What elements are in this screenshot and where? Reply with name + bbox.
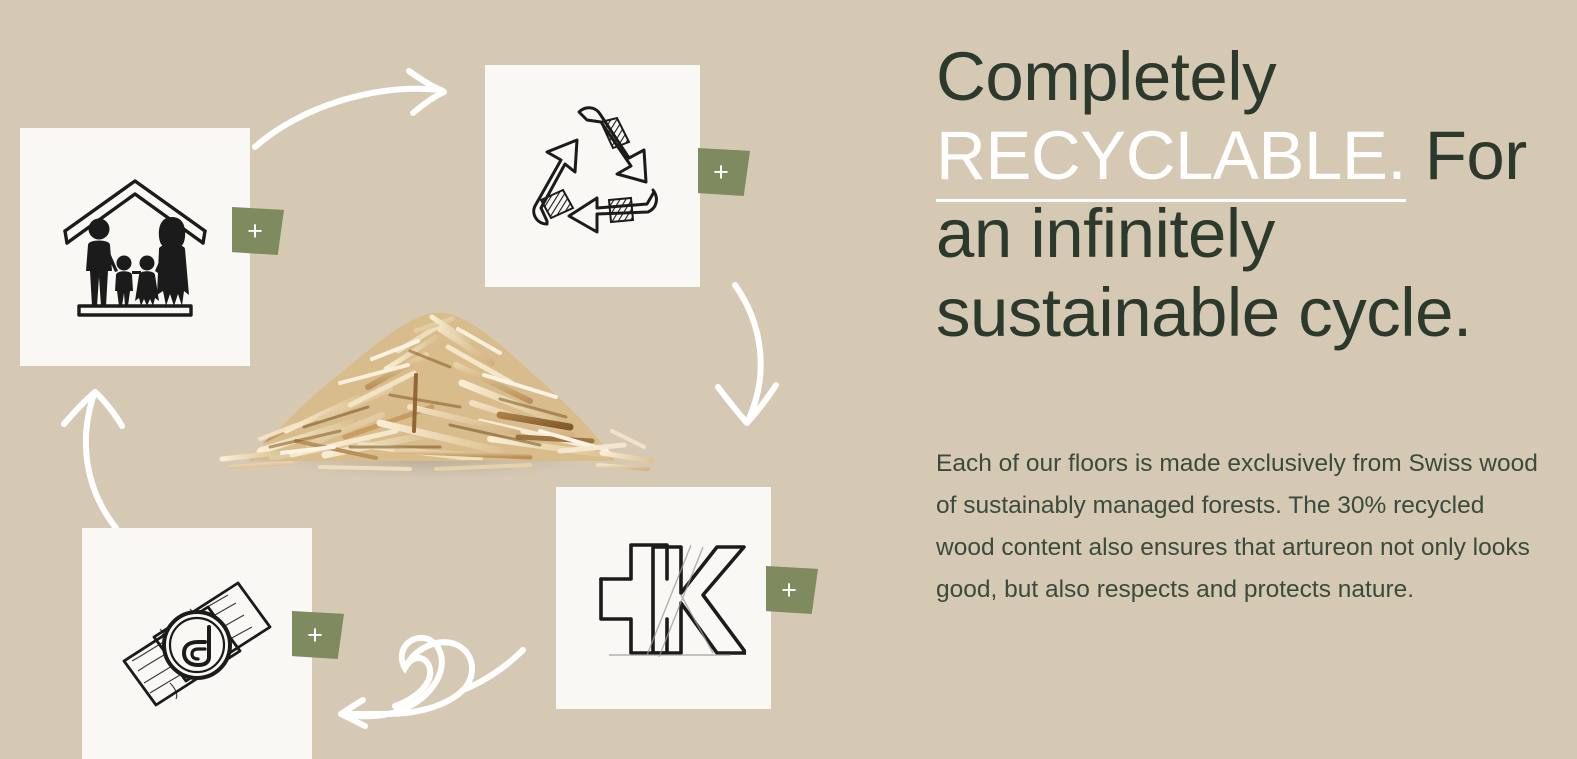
expand-badge-recycling[interactable]: + [698,148,750,196]
plus-icon: + [307,622,323,649]
plus-icon: + [781,577,797,604]
plus-icon: + [247,218,263,245]
cycle-node-recycling[interactable] [485,65,700,287]
body-paragraph: Each of our floors is made exclusively f… [936,443,1546,612]
expand-badge-family-home[interactable]: + [232,207,284,255]
curved-arrow-down-icon [700,275,810,440]
curved-arrow-up-icon [48,378,158,543]
expand-badge-artureon-planks[interactable]: + [292,611,344,659]
swiss-cross-k-icon [556,487,771,709]
cycle-node-swiss-quality[interactable] [556,487,771,709]
sustainability-cycle-diagram: + [0,0,930,759]
curved-arrow-right-icon [245,55,475,165]
cycle-node-family-home[interactable] [20,128,250,366]
plus-icon: + [713,159,729,186]
family-under-roof-icon [20,128,250,366]
recycling-arrows-icon [485,65,700,287]
wood-chips-pile-image [200,255,660,485]
headline-accent-recyclable: RECYCLABLE. [936,117,1406,202]
page-title: Completely RECYCLABLE. For an infinitely… [936,38,1548,353]
copy-panel: Completely RECYCLABLE. For an infinitely… [936,0,1556,759]
wood-planks-a-logo-icon [82,528,312,759]
cycle-node-artureon-planks[interactable] [82,528,312,759]
heart-arrow-left-icon [325,622,545,737]
headline-part-1: Completely [936,38,1276,115]
expand-badge-swiss-quality[interactable]: + [766,566,818,614]
